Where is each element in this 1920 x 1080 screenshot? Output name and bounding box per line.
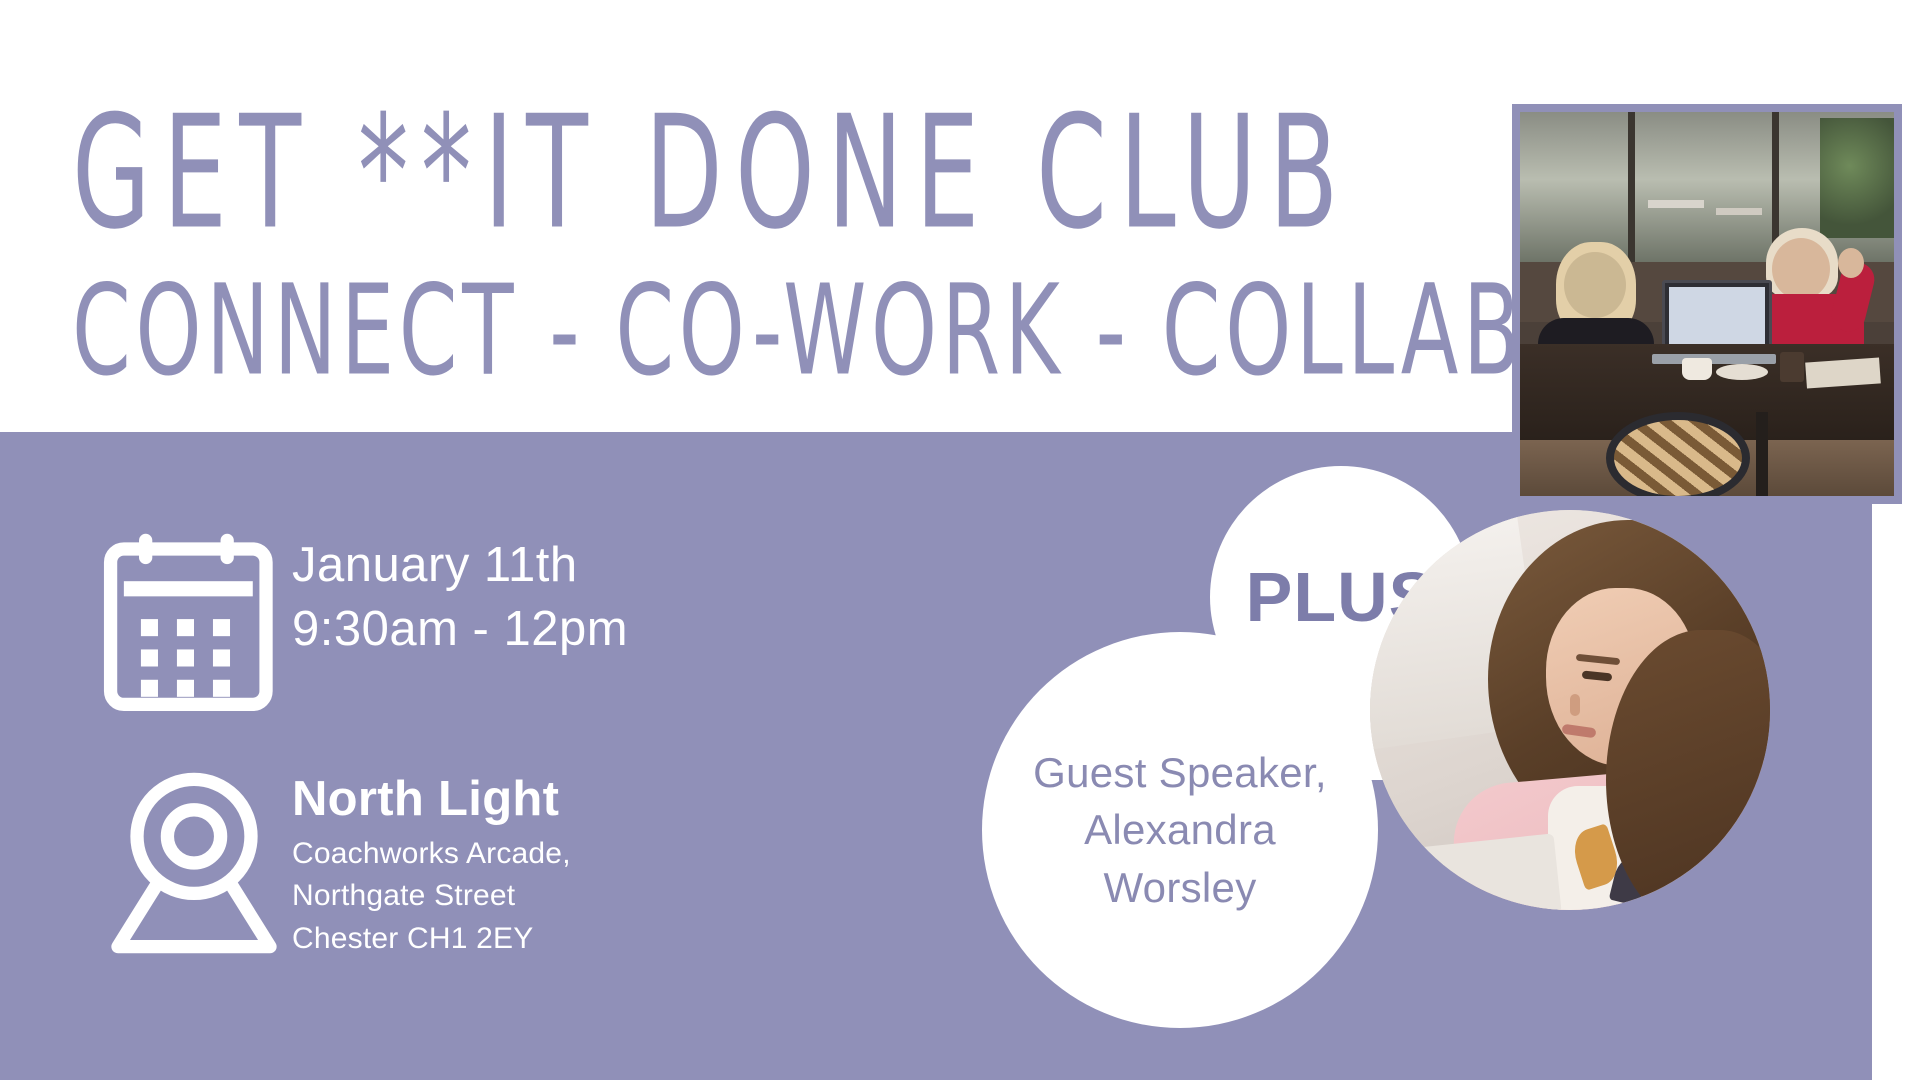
address-line-2: Northgate Street: [292, 875, 856, 918]
location-row: North Light Coachworks Arcade, Northgate…: [96, 768, 856, 961]
right-edge-strip: [1872, 432, 1920, 1080]
date-time-text: January 11th 9:30am - 12pm: [292, 530, 856, 661]
headline-group: GET **IT DONE CLUB CONNECT - CO-WORK - C…: [72, 96, 1492, 372]
guest-speaker-portrait: [1370, 510, 1770, 910]
event-date: January 11th: [292, 534, 856, 598]
venue-address: Coachworks Arcade, Northgate Street Ches…: [292, 833, 856, 961]
speaker-line-3: Worsley: [1030, 859, 1330, 916]
event-flyer: GET **IT DONE CLUB CONNECT - CO-WORK - C…: [0, 0, 1920, 1080]
cowork-cafe-photo: [1520, 112, 1894, 496]
map-pin-icon: [96, 768, 292, 958]
calendar-icon: [96, 530, 292, 712]
venue-name: North Light: [292, 772, 856, 827]
location-text: North Light Coachworks Arcade, Northgate…: [292, 768, 856, 961]
event-time: 9:30am - 12pm: [292, 598, 856, 662]
page-title: GET **IT DONE CLUB: [72, 96, 1322, 252]
speaker-line-2: Alexandra: [1030, 801, 1330, 858]
date-time-row: January 11th 9:30am - 12pm: [96, 530, 856, 712]
address-line-1: Coachworks Arcade,: [292, 833, 856, 876]
event-details: January 11th 9:30am - 12pm North Light C…: [96, 530, 856, 961]
speaker-line-1: Guest Speaker,: [1030, 744, 1330, 801]
page-subtitle: CONNECT - CO-WORK - COLLABORATE: [72, 268, 1350, 393]
address-line-3: Chester CH1 2EY: [292, 918, 856, 961]
guest-speaker-text: Guest Speaker, Alexandra Worsley: [1030, 744, 1330, 915]
